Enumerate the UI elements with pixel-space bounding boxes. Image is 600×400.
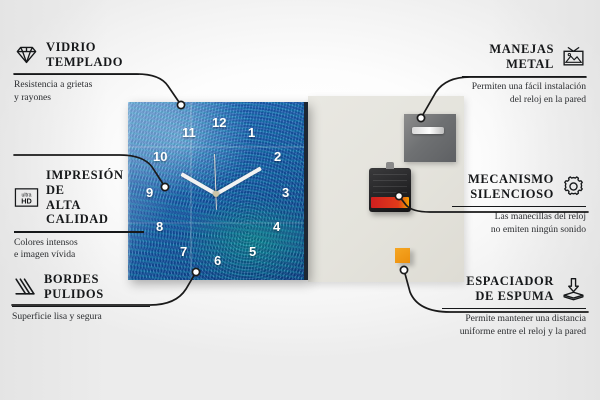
- callout-title-line1: BORDES: [44, 272, 104, 287]
- picture-frame-icon: [561, 44, 586, 69]
- metal-hanger-plate: [404, 114, 456, 162]
- callout-heading-manejas: MANEJAS METAL: [462, 42, 586, 72]
- callout-subtitle-line1: Permiten una fácil instalación: [462, 81, 586, 93]
- callout-subtitle-line1: Colores intensos: [14, 237, 144, 249]
- callout-title-line2: DE ESPUMA: [466, 289, 554, 304]
- callout-impresion-alta-calidad: ultra HD IMPRESIÓN DE ALTA CALIDAD Color…: [14, 168, 144, 262]
- clock-numeral-10: 10: [153, 150, 167, 163]
- clock-numeral-3: 3: [282, 186, 289, 199]
- silent-mechanism-box: [369, 168, 411, 212]
- mechanism-detail: [373, 174, 407, 196]
- callout-subtitle-line2: y rayones: [14, 92, 139, 104]
- callout-title-line1: IMPRESIÓN DE: [46, 168, 144, 198]
- callout-title-line2: TEMPLADO: [46, 55, 123, 70]
- clock-numeral-12: 12: [212, 116, 226, 129]
- callout-subtitle-line1: Resistencia a grietas: [14, 79, 139, 91]
- callout-heading-mecanismo: MECANISMO SILENCIOSO: [452, 172, 586, 202]
- callout-title-line1: VIDRIO: [46, 40, 123, 55]
- clock-numeral-4: 4: [273, 220, 280, 233]
- callout-rule: [442, 308, 586, 310]
- callout-title-line1: MECANISMO: [468, 172, 554, 187]
- clock-numeral-6: 6: [214, 254, 221, 267]
- ultra-hd-icon: ultra HD: [14, 185, 39, 210]
- callout-heading-impresion: ultra HD IMPRESIÓN DE ALTA CALIDAD: [14, 168, 144, 227]
- callout-subtitle-line1: Superficie lisa y segura: [12, 311, 150, 323]
- callout-rule: [14, 74, 139, 76]
- diamond-icon: [14, 42, 39, 67]
- callout-heading-espaciador: ESPACIADOR DE ESPUMA: [442, 274, 586, 304]
- callout-manejas-metal: MANEJAS METAL Permiten una fácil instala…: [462, 42, 586, 106]
- callout-rule: [14, 231, 144, 233]
- foam-spacer: [395, 248, 410, 263]
- callout-heading-vidrio-templado: VIDRIO TEMPLADO: [14, 40, 139, 70]
- polished-edges-icon: [12, 274, 37, 299]
- mechanism-shaft: [386, 162, 394, 169]
- callout-title-line2: ALTA CALIDAD: [46, 198, 144, 228]
- gear-icon: [561, 174, 586, 199]
- clock-numeral-11: 11: [182, 126, 196, 139]
- svg-text:HD: HD: [21, 197, 32, 206]
- callout-title-line2: PULIDOS: [44, 287, 104, 302]
- clock-numeral-5: 5: [249, 245, 256, 258]
- callout-subtitle-line1: Las manecillas del reloj: [452, 211, 586, 223]
- callout-subtitle-line2: uniforme entre el reloj y la pared: [442, 326, 586, 338]
- clock-numeral-8: 8: [156, 220, 163, 233]
- wall-clock: 12 1 2 3 4 5 6 7 8 9 10 11: [128, 102, 308, 280]
- callout-rule: [12, 306, 150, 308]
- callout-vidrio-templado: VIDRIO TEMPLADO Resistencia a grietas y …: [14, 40, 139, 104]
- clock-numeral-7: 7: [180, 245, 187, 258]
- clock-numeral-2: 2: [274, 150, 281, 163]
- callout-title-line2: METAL: [489, 57, 554, 72]
- mechanism-label: [371, 197, 409, 208]
- callout-mecanismo-silencioso: MECANISMO SILENCIOSO Las manecillas del …: [452, 172, 586, 236]
- press-down-icon: [561, 276, 586, 301]
- callout-subtitle-line2: del reloj en la pared: [462, 94, 586, 106]
- infographic-canvas: 12 1 2 3 4 5 6 7 8 9 10 11: [0, 0, 600, 400]
- callout-bordes-pulidos: BORDES PULIDOS Superficie lisa y segura: [12, 272, 150, 324]
- callout-subtitle-line2: no emiten ningún sonido: [452, 224, 586, 236]
- callout-subtitle-line1: Permite mantener una distancia: [442, 313, 586, 325]
- callout-title-line2: SILENCIOSO: [468, 187, 554, 202]
- clock-center-pivot: [213, 191, 219, 197]
- callout-subtitle-line2: e imagen vívida: [14, 249, 144, 261]
- callout-title-line1: ESPACIADOR: [466, 274, 554, 289]
- callout-rule: [462, 76, 586, 78]
- callout-heading-bordes: BORDES PULIDOS: [12, 272, 150, 302]
- hanger-strip: [412, 127, 444, 134]
- callout-rule: [452, 206, 586, 208]
- callout-title-line1: MANEJAS: [489, 42, 554, 57]
- callout-espaciador-de-espuma: ESPACIADOR DE ESPUMA Permite mantener un…: [442, 274, 586, 338]
- clock-numeral-9: 9: [146, 186, 153, 199]
- clock-numeral-1: 1: [248, 126, 255, 139]
- product-composition: 12 1 2 3 4 5 6 7 8 9 10 11: [128, 96, 464, 286]
